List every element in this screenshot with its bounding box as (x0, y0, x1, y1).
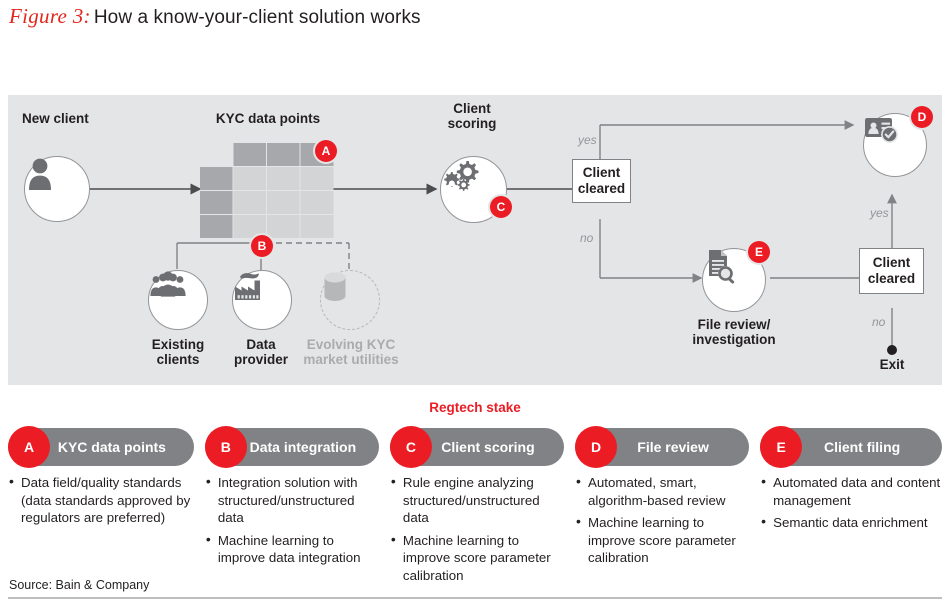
label-existing-clients: Existing clients (136, 337, 220, 367)
label-file-review-line2: investigation (692, 332, 775, 347)
data-grid-icon (200, 143, 334, 238)
label-kyc-data-points: KYC data points (193, 111, 343, 126)
card-a: A KYC data points Data field/quality sta… (8, 428, 194, 573)
label-evolving-kyc-line2: market utilities (303, 352, 398, 367)
label-exit: Exit (862, 357, 922, 372)
label-file-review: File review/ investigation (684, 317, 784, 347)
card-b: B Data integration Integration solution … (205, 428, 379, 573)
label-file-review-line1: File review/ (698, 317, 771, 332)
list-item: Machine learning to improve score parame… (390, 532, 564, 585)
card-c: C Client scoring Rule engine analyzing s… (390, 428, 564, 573)
card-e: E Client filing Automated data and conte… (760, 428, 942, 573)
label-evolving-kyc: Evolving KYC market utilities (302, 337, 400, 367)
evolving-kyc-circle (320, 270, 380, 330)
label-new-client: New client (22, 111, 132, 126)
card-a-badge: A (8, 426, 50, 468)
card-b-badge: B (205, 426, 247, 468)
flow-diagram-panel: New client KYC data points A Client scor… (8, 95, 942, 385)
id-card-check-icon (864, 114, 900, 144)
card-b-pill[interactable]: B Data integration (205, 428, 379, 466)
card-d: D File review Automated, smart, algorith… (575, 428, 749, 573)
label-existing-clients-line1: Existing (152, 337, 205, 352)
box-client-cleared-1: Client cleared (572, 159, 631, 203)
label-client-scoring-line2: scoring (448, 116, 497, 131)
card-d-bullets: Automated, smart, algorithm-based review… (575, 474, 749, 567)
gears-icon (441, 157, 483, 197)
card-d-pill[interactable]: D File review (575, 428, 749, 466)
label-client-scoring: Client scoring (412, 101, 532, 131)
existing-clients-circle (148, 270, 208, 330)
badge-b: B (251, 235, 273, 257)
card-c-bullets: Rule engine analyzing structured/unstruc… (390, 474, 564, 584)
label-evolving-kyc-line1: Evolving KYC (307, 337, 396, 352)
flow-label-yes-top: yes (578, 133, 597, 147)
source-note: Source: Bain & Company (9, 578, 149, 592)
card-e-pill[interactable]: E Client filing (760, 428, 942, 466)
list-item: Semantic data enrichment (760, 514, 942, 532)
people-group-icon (149, 271, 187, 297)
card-a-bullets: Data field/quality standards (data stand… (8, 474, 194, 527)
figure-title-text: How a know-your-client solution works (94, 7, 421, 28)
flow-label-no-right: no (872, 315, 885, 329)
page-title: Figure 3:How a know-your-client solution… (9, 4, 421, 29)
card-d-badge: D (575, 426, 617, 468)
label-client-scoring-line1: Client (453, 101, 491, 116)
database-cylinder-icon (321, 271, 349, 303)
badge-a: A (315, 140, 337, 162)
list-item: Automated, smart, algorithm-based review (575, 474, 749, 509)
bottom-rule (8, 597, 942, 599)
badge-e: E (748, 241, 770, 263)
flow-label-yes-right: yes (870, 206, 889, 220)
list-item: Integration solution with structured/uns… (205, 474, 379, 527)
data-provider-circle (232, 270, 292, 330)
document-magnifier-icon (703, 249, 737, 285)
person-icon (25, 157, 55, 191)
badge-c: C (490, 196, 512, 218)
list-item: Automated data and content management (760, 474, 942, 509)
list-item: Machine learning to improve data integra… (205, 532, 379, 567)
list-item: Machine learning to improve score parame… (575, 514, 749, 567)
badge-d: D (911, 106, 933, 128)
new-client-circle (24, 156, 90, 222)
card-c-badge: C (390, 426, 432, 468)
figure-number: Figure 3: (9, 4, 94, 28)
regtech-stake-heading: Regtech stake (0, 400, 950, 415)
label-existing-clients-line2: clients (157, 352, 200, 367)
card-e-badge: E (760, 426, 802, 468)
flow-label-no-mid: no (580, 231, 593, 245)
list-item: Data field/quality standards (data stand… (8, 474, 194, 527)
label-data-provider: Data provider (219, 337, 303, 367)
label-data-provider-line1: Data (246, 337, 275, 352)
regtech-cards: A KYC data points Data field/quality sta… (8, 428, 942, 573)
card-a-pill[interactable]: A KYC data points (8, 428, 194, 466)
list-item: Rule engine analyzing structured/unstruc… (390, 474, 564, 527)
box-client-cleared-2: Client cleared (859, 248, 924, 294)
card-c-pill[interactable]: C Client scoring (390, 428, 564, 466)
card-b-bullets: Integration solution with structured/uns… (205, 474, 379, 567)
label-data-provider-line2: provider (234, 352, 288, 367)
factory-icon (233, 271, 269, 301)
card-e-bullets: Automated data and content management Se… (760, 474, 942, 532)
